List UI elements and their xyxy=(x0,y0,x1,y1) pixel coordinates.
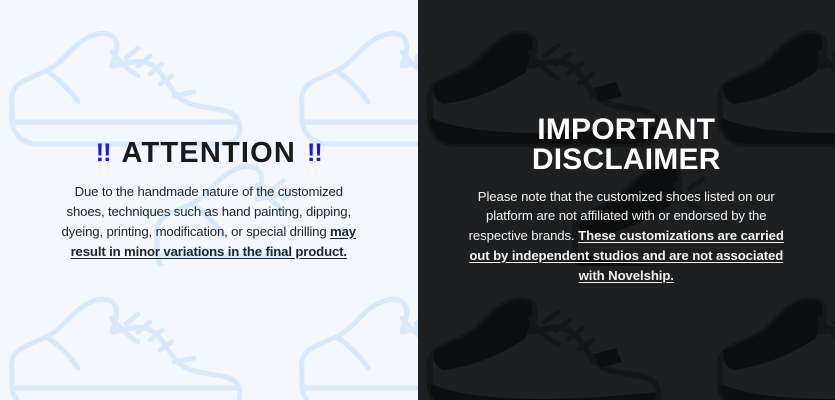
disclaimer-body: Please note that the customized shoes li… xyxy=(464,187,788,286)
attention-panel: !!ATTENTION!! Due to the handmade nature… xyxy=(0,0,418,400)
double-exclamation-icon-left: !! xyxy=(96,139,111,167)
disclaimer-panel: IMPORTANT DISCLAIMER Please note that th… xyxy=(418,0,835,400)
attention-body-plain: Due to the handmade nature of the custom… xyxy=(62,184,351,239)
attention-heading: !!ATTENTION!! xyxy=(16,138,402,168)
attention-body: Due to the handmade nature of the custom… xyxy=(59,182,359,262)
disclaimer-heading: IMPORTANT DISCLAIMER xyxy=(434,115,820,175)
attention-panel-content: !!ATTENTION!! Due to the handmade nature… xyxy=(0,138,418,262)
disclaimer-heading-line-1: IMPORTANT xyxy=(434,115,820,145)
disclaimer-heading-line-2: DISCLAIMER xyxy=(434,145,820,175)
disclaimer-panel-content: IMPORTANT DISCLAIMER Please note that th… xyxy=(418,115,835,286)
double-exclamation-icon-right: !! xyxy=(307,139,322,167)
attention-heading-text: ATTENTION xyxy=(121,137,296,169)
dual-disclaimer-banner: !!ATTENTION!! Due to the handmade nature… xyxy=(0,0,835,400)
